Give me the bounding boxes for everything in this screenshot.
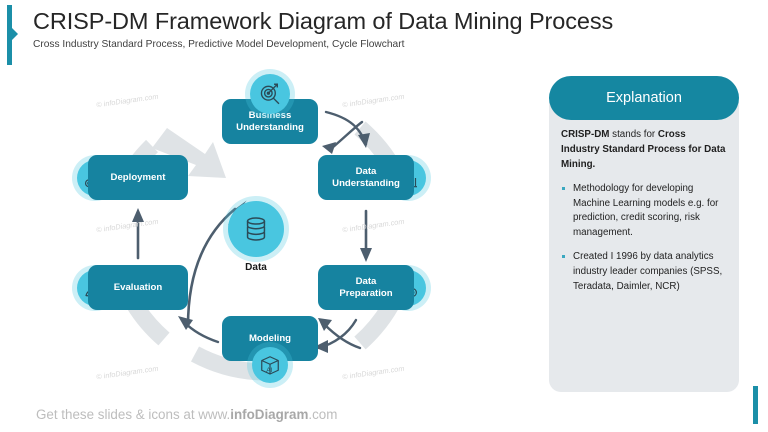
list-item: Methodology for developing Machine Learn…	[561, 182, 727, 242]
slide-header: CRISP-DM Framework Diagram of Data Minin…	[33, 8, 593, 50]
node-data-understanding[interactable]: Data Understanding	[318, 155, 414, 200]
center-data-label: Data	[210, 262, 302, 273]
list-item: Created I 1996 by data analytics industr…	[561, 250, 727, 295]
explanation-heading-label: Explanation	[606, 90, 682, 106]
page-subtitle: Cross Industry Standard Process, Predict…	[33, 39, 593, 50]
left-accent-notch-icon	[12, 28, 18, 40]
right-accent-bar	[753, 386, 758, 424]
footer-prefix: Get these slides & icons at www.	[36, 407, 230, 422]
node-data-preparation-line1: Data	[333, 276, 398, 288]
footer-suffix: .com	[308, 407, 337, 422]
page-title: CRISP-DM Framework Diagram of Data Minin…	[33, 8, 593, 35]
explanation-lead-bold-1: CRISP-DM	[561, 129, 609, 140]
node-deployment[interactable]: Deployment	[88, 155, 188, 200]
explanation-panel-heading: Explanation	[549, 76, 739, 120]
icon-business-understanding	[250, 74, 290, 114]
target-magnifier-icon	[257, 81, 283, 107]
node-modeling-label: Modeling	[243, 333, 297, 345]
node-data-understanding-line1: Data	[326, 166, 406, 178]
node-evaluation[interactable]: Evaluation	[88, 265, 188, 310]
ai-cube-icon: AI	[258, 353, 282, 377]
icon-modeling: AI	[252, 347, 288, 383]
explanation-lead-regular-1: stands for	[609, 129, 657, 140]
node-data-preparation[interactable]: Data Preparation	[318, 265, 414, 310]
center-data-circle	[228, 201, 284, 257]
svg-text:AI: AI	[266, 367, 273, 374]
footer-brand: infoDiagram	[230, 407, 308, 422]
explanation-lead: CRISP-DM stands for Cross Industry Stand…	[561, 128, 727, 173]
explanation-bullet-list: Methodology for developing Machine Learn…	[561, 182, 727, 295]
node-deployment-label: Deployment	[105, 172, 172, 184]
slide-canvas: CRISP-DM Framework Diagram of Data Minin…	[0, 0, 768, 432]
footer-promo[interactable]: Get these slides & icons at www.infoDiag…	[36, 407, 337, 422]
node-data-understanding-line2: Understanding	[326, 178, 406, 190]
crisp-dm-cycle-diagram: Data Business Understanding	[60, 66, 480, 402]
node-business-understanding-line2: Understanding	[230, 122, 310, 134]
database-icon	[241, 214, 271, 244]
node-data-preparation-line2: Preparation	[333, 288, 398, 300]
explanation-panel-body: CRISP-DM stands for Cross Industry Stand…	[561, 128, 727, 304]
node-evaluation-label: Evaluation	[108, 282, 169, 294]
